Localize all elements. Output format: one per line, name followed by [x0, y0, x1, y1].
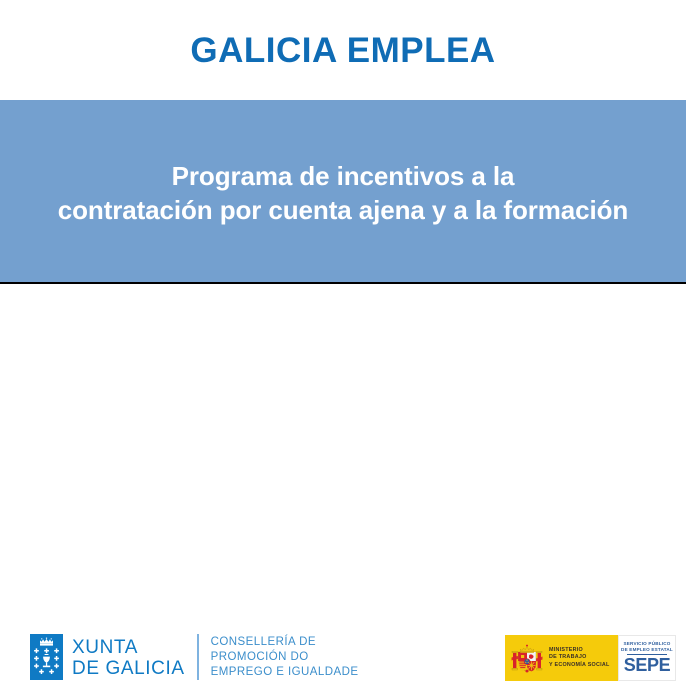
page-title: GALICIA EMPLEA [190, 33, 495, 68]
galicia-coat-of-arms-icon [30, 634, 63, 680]
banner-line-2: contratación por cuenta ajena y a la for… [58, 194, 628, 228]
ministerio-de-trabajo-logo: MINISTERIO DE TRABAJO Y ECONOMÍA SOCIAL [505, 635, 618, 681]
conselleria-wordmark: CONSELLERÍA DE PROMOCIÓN DO EMPREGO E IG… [211, 634, 359, 681]
ministerio-wordmark: MINISTERIO DE TRABAJO Y ECONOMÍA SOCIAL [549, 647, 610, 669]
banner-line-1: Programa de incentivos a la [172, 160, 515, 194]
spain-coat-of-arms-icon [510, 640, 544, 676]
xunta-wordmark: XUNTA DE GALICIA [72, 634, 185, 681]
conselleria-line-2: PROMOCIÓN DO [211, 650, 359, 665]
sepe-logo: SERVICIO PÚBLICO DE EMPLEO ESTATAL SEPE [618, 635, 676, 681]
xunta-word-1: XUNTA [72, 637, 185, 658]
conselleria-line-3: EMPREGO E IGUALDADE [211, 665, 359, 680]
header-area: GALICIA EMPLEA [0, 0, 686, 100]
footer-logos: XUNTA DE GALICIA CONSELLERÍA DE PROMOCIÓ… [0, 284, 686, 410]
logo-separator [197, 634, 199, 680]
xunta-word-2: DE GALICIA [72, 658, 185, 679]
program-banner: Programa de incentivos a la contratación… [0, 100, 686, 282]
sepe-acronym: SEPE [624, 656, 670, 675]
sepe-underline [627, 654, 667, 655]
ministerio-line-2: DE TRABAJO [549, 654, 610, 661]
conselleria-line-1: CONSELLERÍA DE [211, 635, 359, 650]
xunta-de-galicia-logo: XUNTA DE GALICIA CONSELLERÍA DE PROMOCIÓ… [30, 634, 359, 681]
sepe-line-2: DE EMPLEO ESTATAL [621, 647, 673, 653]
ministerio-line-1: MINISTERIO [549, 647, 610, 654]
ministerio-line-3: Y ECONOMÍA SOCIAL [549, 662, 610, 669]
